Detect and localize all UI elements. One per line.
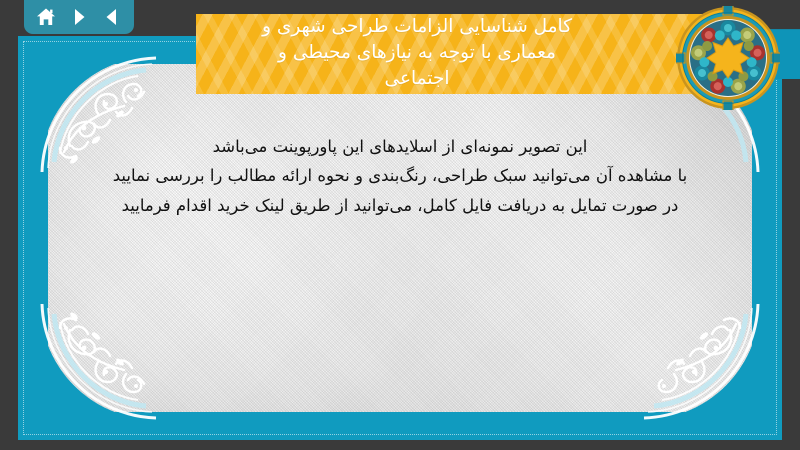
back-arrow-icon bbox=[102, 7, 122, 27]
back-button[interactable] bbox=[99, 4, 125, 30]
title-banner-group: کامل شناسایی الزامات طراحی شهری و معماری… bbox=[196, 0, 800, 104]
home-icon bbox=[35, 6, 57, 28]
body-line: این تصویر نمونه‌ای از اسلایدهای این پاور… bbox=[48, 132, 752, 161]
slide-stage: این تصویر نمونه‌ای از اسلایدهای این پاور… bbox=[0, 0, 800, 450]
title-banner: کامل شناسایی الزامات طراحی شهری و معماری… bbox=[196, 14, 714, 94]
slide-canvas bbox=[48, 64, 752, 412]
banner-tab-notch bbox=[714, 0, 800, 104]
forward-button[interactable] bbox=[66, 4, 92, 30]
body-line: با مشاهده آن می‌توانید سبک طراحی، رنگ‌بن… bbox=[48, 161, 752, 190]
navigation-bar bbox=[24, 0, 134, 34]
page-title: کامل شناسایی الزامات طراحی شهری و معماری… bbox=[262, 14, 572, 93]
forward-arrow-icon bbox=[69, 7, 89, 27]
home-button[interactable] bbox=[33, 4, 59, 30]
slide-body-text: این تصویر نمونه‌ای از اسلایدهای این پاور… bbox=[48, 132, 752, 220]
body-line: در صورت تمایل به دریافت فایل کامل، می‌تو… bbox=[48, 191, 752, 220]
